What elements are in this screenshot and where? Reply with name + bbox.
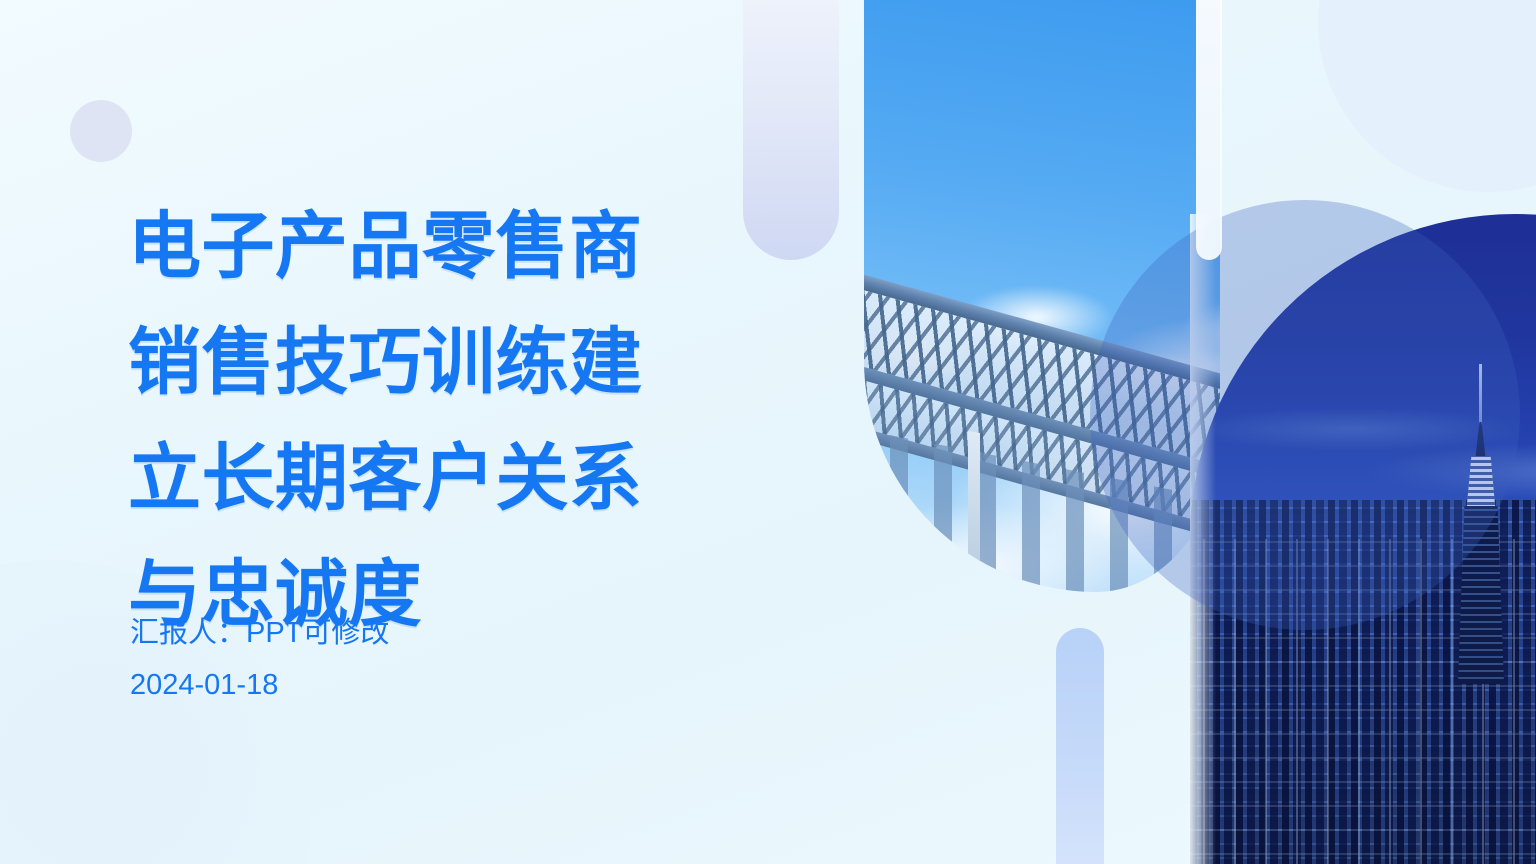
bridge-pylon — [968, 431, 980, 583]
esb-tower-shaft — [1458, 506, 1504, 684]
city-skyline-photo — [1190, 214, 1536, 864]
decorative-capsule-top — [743, 0, 839, 260]
title-slide: 电子产品零售商 销售技巧训练建 立长期客户关系 与忠诚度 汇报人：PPT可修改 … — [0, 0, 1536, 864]
bridge-photo — [864, 0, 1220, 592]
presenter-label: 汇报人：PPT可修改 — [130, 616, 389, 651]
slide-date: 2024-01-18 — [130, 668, 278, 703]
empire-state-building — [1452, 364, 1510, 684]
esb-lit-crown — [1464, 456, 1498, 508]
esb-spire — [1479, 364, 1482, 426]
page-title: 电子产品零售商 销售技巧训练建 立长期客户关系 与忠诚度 — [128, 189, 738, 653]
title-line-2: 销售技巧训练建 — [128, 305, 738, 421]
decorative-capsule-bottom — [1056, 628, 1104, 864]
title-line-3: 立长期客户关系 — [128, 421, 738, 537]
decorative-dot-upper-left — [70, 100, 132, 162]
decorative-capsule-divider — [1196, 0, 1222, 260]
title-line-1: 电子产品零售商 — [128, 189, 738, 305]
